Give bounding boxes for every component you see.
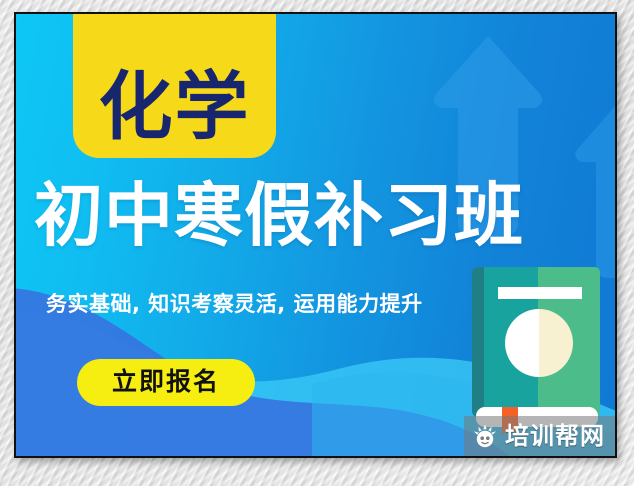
page-title: 初中寒假补习班 — [34, 182, 600, 251]
page-root: 化学 初中寒假补习班 务实基础, 知识考察灵活, 运用能力提升 立即报名 — [0, 0, 634, 486]
poster-subtitle: 务实基础, 知识考察灵活, 运用能力提升 — [46, 294, 423, 315]
poster-canvas: 化学 初中寒假补习班 务实基础, 知识考察灵活, 运用能力提升 立即报名 — [16, 14, 615, 456]
promo-poster: 化学 初中寒假补习班 务实基础, 知识考察灵活, 运用能力提升 立即报名 — [14, 12, 617, 458]
subject-badge: 化学 — [73, 14, 276, 158]
watermark-label: 培训帮网 — [505, 424, 605, 448]
watermark: 培训帮网 — [464, 416, 615, 456]
sun-face-icon — [472, 423, 498, 449]
book-icon — [472, 263, 606, 435]
subject-badge-label: 化学 — [99, 70, 251, 144]
enroll-now-button-label: 立即报名 — [112, 370, 220, 395]
enroll-now-button[interactable]: 立即报名 — [77, 359, 255, 406]
